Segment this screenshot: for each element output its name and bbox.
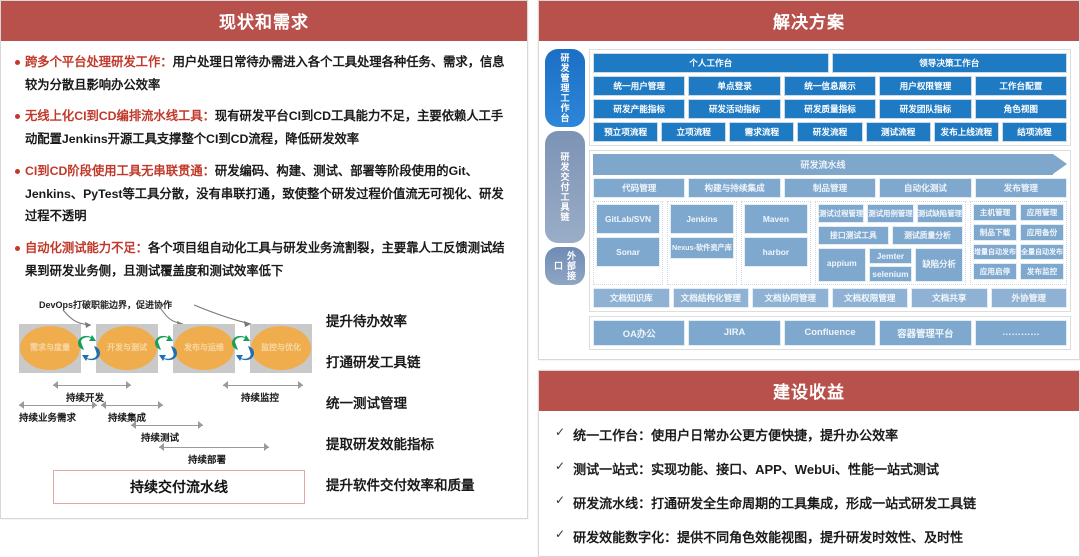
workbench-group: 个人工作台 领导决策工作台 统一用户管理 单点登录 统一信息展示 用户权限管理 … xyxy=(589,49,1071,146)
benefit-item: ✓ 测试一站式：实现功能、接口、APP、WebUi、性能一站式测试 xyxy=(555,459,1063,478)
pipeline-stage[interactable]: 制品管理 xyxy=(784,178,876,198)
continuous-delivery-pipeline-box: 持续交付流水线 xyxy=(53,470,305,504)
bullet-head: 跨多个平台处理研发工作： xyxy=(25,55,173,69)
outcome-item: 提升软件交付效率和质量 xyxy=(326,474,517,494)
document-row: 文档知识库 文档结构化管理 文档协同管理 文档权限管理 文档共享 外协管理 xyxy=(593,288,1067,308)
doc-item[interactable]: 文档权限管理 xyxy=(832,288,909,308)
external-container-platform[interactable]: 容器管理平台 xyxy=(879,320,971,346)
cell-item[interactable]: 结项流程 xyxy=(1002,122,1067,142)
cell-item[interactable]: 立项流程 xyxy=(661,122,726,142)
bullet-text: 跨多个平台处理研发工作：用户处理日常待办需进入各个工具处理各种任务、需求，信息较… xyxy=(25,51,513,96)
tool-selenium[interactable]: selenium xyxy=(869,266,913,282)
cell-item[interactable]: 预立项流程 xyxy=(593,122,658,142)
tool-column-artifact: Maven harbor xyxy=(741,201,811,285)
bullet-dot-icon xyxy=(15,60,20,65)
tool-maven[interactable]: Maven xyxy=(744,204,808,234)
span-label: 持续监控 xyxy=(241,390,279,404)
outcome-item: 打通研发工具链 xyxy=(326,351,517,371)
benefit-head: 统一工作台： xyxy=(573,428,651,443)
bullet-dot-icon xyxy=(15,114,20,119)
pipeline-stage[interactable]: 构建与持续集成 xyxy=(688,178,780,198)
cell-item[interactable]: 研发活动指标 xyxy=(688,99,780,119)
devops-stage-label: 监控与优化 xyxy=(251,326,311,370)
workbench-top-row: 个人工作台 领导决策工作台 xyxy=(593,53,1067,73)
slide-root: 现状和需求 跨多个平台处理研发工作：用户处理日常待办需进入各个工具处理各种任务、… xyxy=(0,0,1080,519)
devops-flow-area: DevOps打破职能边界，促进协作 需求与度量 xyxy=(11,296,326,510)
tool-release-monitor[interactable]: 发布监控 xyxy=(1020,263,1064,280)
benefit-head: 测试一站式： xyxy=(573,462,651,477)
outcome-item: 提升待办效率 xyxy=(326,310,517,330)
external-confluence[interactable]: Confluence xyxy=(784,320,876,346)
architecture-groups: 个人工作台 领导决策工作台 统一用户管理 单点登录 统一信息展示 用户权限管理 … xyxy=(589,49,1071,350)
workbench-row-2: 研发产能指标 研发活动指标 研发质量指标 研发团队指标 角色视图 xyxy=(593,99,1067,119)
tool-full-release[interactable]: 全量自动发布 xyxy=(1020,244,1064,260)
external-oa[interactable]: OA办公 xyxy=(593,320,685,346)
benefit-title: 建设收益 xyxy=(539,371,1079,411)
cell-item[interactable]: 角色视图 xyxy=(975,99,1067,119)
benefit-panel: 建设收益 ✓ 统一工作台：使用户日常办公更方便快捷，提升办公效率 ✓ 测试一站式… xyxy=(538,370,1080,557)
solution-title: 解决方案 xyxy=(539,1,1079,41)
cell-item[interactable]: 研发团队指标 xyxy=(879,99,971,119)
tool-jenkins[interactable]: Jenkins xyxy=(670,204,734,234)
tool-gitlab-svn[interactable]: GitLab/SVN xyxy=(596,204,660,234)
cell-item[interactable]: 单点登录 xyxy=(688,76,780,96)
solution-architecture: 研发管理工作台 研发交付工具链 外部接口 个人工作台 领导决策工作台 统一用户管… xyxy=(539,41,1079,359)
left-column: 现状和需求 跨多个平台处理研发工作：用户处理日常待办需进入各个工具处理各种任务、… xyxy=(0,0,528,519)
tool-row: 测试过程管理 测试用例管理 测试缺陷管理 xyxy=(818,204,963,223)
tool-row: 主机管理 应用管理 xyxy=(973,204,1064,221)
tool-host-mgmt[interactable]: 主机管理 xyxy=(973,204,1017,221)
architecture-layer-rails: 研发管理工作台 研发交付工具链 外部接口 xyxy=(545,49,585,350)
pipeline-stage-row: 代码管理 构建与持续集成 制品管理 自动化测试 发布管理 xyxy=(593,178,1067,198)
devops-stage-label: 发布与运维 xyxy=(174,326,234,370)
devops-stage-row: 需求与度量 开发与测试 发布与运维 xyxy=(19,324,312,373)
bullet-head: CI到CD阶段使用工具无串联贯通： xyxy=(25,164,215,178)
external-interface-group: OA办公 JIRA Confluence 容器管理平台 ………… xyxy=(589,316,1071,350)
bullet-item: 跨多个平台处理研发工作：用户处理日常待办需进入各个工具处理各种任务、需求，信息较… xyxy=(15,51,513,96)
benefit-text: 测试一站式：实现功能、接口、APP、WebUi、性能一站式测试 xyxy=(573,459,939,478)
sync-icon xyxy=(154,335,177,361)
cell-leader-decision-workbench[interactable]: 领导决策工作台 xyxy=(832,53,1068,73)
pipeline-banner: 研发流水线 xyxy=(593,154,1053,175)
rail-dev-delivery-toolchain: 研发交付工具链 xyxy=(545,131,585,243)
benefit-item: ✓ 统一工作台：使用户日常办公更方便快捷，提升办公效率 xyxy=(555,425,1063,444)
tool-app-mgmt[interactable]: 应用管理 xyxy=(1020,204,1064,221)
sync-icon xyxy=(77,335,100,361)
tool-nexus[interactable]: Nexus-软件资产库 xyxy=(670,237,734,259)
tool-row: harbor xyxy=(744,237,808,267)
tool-test-quality-analysis[interactable]: 测试质量分析 xyxy=(892,226,963,245)
current-status-panel: 现状和需求 跨多个平台处理研发工作：用户处理日常待办需进入各个工具处理各种任务、… xyxy=(0,0,528,519)
tool-column-deploy: 主机管理 应用管理 制品下载 应用备份 增量自动发布 全量自动发布 xyxy=(970,201,1067,285)
doc-item[interactable]: 文档知识库 xyxy=(593,288,670,308)
cell-item[interactable]: 需求流程 xyxy=(729,122,794,142)
devops-stage: 需求与度量 xyxy=(19,324,81,373)
benefit-text: 统一工作台：使用户日常办公更方便快捷，提升办公效率 xyxy=(573,425,898,444)
external-more[interactable]: ………… xyxy=(975,320,1067,346)
rail-dev-management-workbench: 研发管理工作台 xyxy=(545,49,585,127)
check-icon: ✓ xyxy=(555,459,565,473)
devops-stage: 监控与优化 xyxy=(250,324,312,373)
tool-test-defect-mgmt[interactable]: 测试缺陷管理 xyxy=(917,204,963,223)
bullet-dot-icon xyxy=(15,169,20,174)
pipeline-stage[interactable]: 发布管理 xyxy=(975,178,1067,198)
tool-harbor[interactable]: harbor xyxy=(744,237,808,267)
tool-row: 制品下载 应用备份 xyxy=(973,224,1064,241)
toolchain-group: 研发流水线 代码管理 构建与持续集成 制品管理 自动化测试 发布管理 GitLa… xyxy=(589,150,1071,312)
bullet-item: 无线上化CI到CD编排流水线工具：现有研发平台CI到CD工具能力不足，主要依赖人… xyxy=(15,105,513,150)
tool-app-start-stop[interactable]: 应用启停 xyxy=(973,263,1017,280)
cell-item[interactable]: 测试流程 xyxy=(866,122,931,142)
cell-item[interactable]: 研发质量指标 xyxy=(784,99,876,119)
current-status-bullet-list: 跨多个平台处理研发工作：用户处理日常待办需进入各个工具处理各种任务、需求，信息较… xyxy=(1,41,527,294)
tool-incremental-release[interactable]: 增量自动发布 xyxy=(973,244,1017,260)
bullet-item: 自动化测试能力不足：各个项目组自动化工具与研发业务流割裂，主要靠人工反馈测试结果… xyxy=(15,237,513,282)
benefit-item: ✓ 研发流水线：打通研发全生命周期的工具集成，形成一站式研发工具链 xyxy=(555,493,1063,512)
benefit-body: 提供不同角色效能视图，提升研发时效性、及时性 xyxy=(677,530,963,545)
check-icon: ✓ xyxy=(555,493,565,507)
cell-item[interactable]: 统一信息展示 xyxy=(784,76,876,96)
sync-icon xyxy=(231,335,254,361)
span-label: 持续业务需求 xyxy=(19,410,76,424)
tool-row: Maven xyxy=(744,204,808,234)
tool-row: Nexus-软件资产库 xyxy=(670,237,734,259)
tool-row: 应用启停 发布监控 xyxy=(973,263,1064,280)
devops-outcomes: 提升待办效率 打通研发工具链 统一测试管理 提取研发效能指标 提升软件交付效率和… xyxy=(326,296,517,510)
tool-column-build: Jenkins Nexus-软件资产库 xyxy=(667,201,737,285)
bullet-head: 无线上化CI到CD编排流水线工具： xyxy=(25,109,215,123)
workbench-row-1: 统一用户管理 单点登录 统一信息展示 用户权限管理 工作台配置 xyxy=(593,76,1067,96)
tool-appium[interactable]: appium xyxy=(818,248,866,282)
doc-item[interactable]: 外协管理 xyxy=(991,288,1068,308)
tool-app-backup[interactable]: 应用备份 xyxy=(1020,224,1064,241)
pipeline-stage[interactable]: 代码管理 xyxy=(593,178,685,198)
tool-sonar[interactable]: Sonar xyxy=(596,237,660,267)
tool-column-scm: GitLab/SVN Sonar xyxy=(593,201,663,285)
tool-artifact-download[interactable]: 制品下载 xyxy=(973,224,1017,241)
tool-row: GitLab/SVN xyxy=(596,204,660,234)
devops-diagram: DevOps打破职能边界，促进协作 需求与度量 xyxy=(11,296,517,510)
benefit-body: 实现功能、接口、APP、WebUi、性能一站式测试 xyxy=(651,462,939,477)
span-label: 持续部署 xyxy=(188,452,226,466)
benefit-text: 研发效能数字化：提供不同角色效能视图，提升研发时效性、及时性 xyxy=(573,527,963,546)
devops-stage-label: 开发与测试 xyxy=(97,326,157,370)
external-jira[interactable]: JIRA xyxy=(688,320,780,346)
benefit-head: 研发流水线： xyxy=(573,496,651,511)
tool-columns: GitLab/SVN Sonar Jenkins Nexus-软件资产库 Mav… xyxy=(593,201,1067,285)
cell-item[interactable]: 发布上线流程 xyxy=(934,122,999,142)
right-column: 解决方案 研发管理工作台 研发交付工具链 外部接口 个人工作台 领导决策工作台 xyxy=(538,0,1080,519)
check-icon: ✓ xyxy=(555,425,565,439)
tool-test-case-mgmt[interactable]: 测试用例管理 xyxy=(867,204,913,223)
external-row: OA办公 JIRA Confluence 容器管理平台 ………… xyxy=(593,320,1067,346)
cell-item[interactable]: 研发产能指标 xyxy=(593,99,685,119)
benefit-body: 打通研发全生命周期的工具集成，形成一站式研发工具链 xyxy=(651,496,976,511)
check-icon: ✓ xyxy=(555,527,565,541)
solution-panel: 解决方案 研发管理工作台 研发交付工具链 外部接口 个人工作台 领导决策工作台 xyxy=(538,0,1080,360)
tool-jmeter[interactable]: Jemter xyxy=(869,248,913,264)
doc-item[interactable]: 文档共享 xyxy=(911,288,988,308)
devops-stage: 开发与测试 xyxy=(96,324,158,373)
benefit-item: ✓ 研发效能数字化：提供不同角色效能视图，提升研发时效性、及时性 xyxy=(555,527,1063,546)
cell-personal-workbench[interactable]: 个人工作台 xyxy=(593,53,829,73)
tool-stack: Jemter selenium xyxy=(869,248,913,282)
bullet-head: 自动化测试能力不足： xyxy=(25,241,148,255)
bullet-dot-icon xyxy=(15,246,20,251)
devops-stage-label: 需求与度量 xyxy=(20,326,80,370)
pipeline-stage[interactable]: 自动化测试 xyxy=(879,178,971,198)
benefit-text: 研发流水线：打通研发全生命周期的工具集成，形成一站式研发工具链 xyxy=(573,493,976,512)
tool-row: appium Jemter selenium 缺陷分析 xyxy=(818,248,963,282)
tool-defect-analysis[interactable]: 缺陷分析 xyxy=(915,248,963,282)
doc-item[interactable]: 文档协同管理 xyxy=(752,288,829,308)
benefit-list: ✓ 统一工作台：使用户日常办公更方便快捷，提升办公效率 ✓ 测试一站式：实现功能… xyxy=(539,411,1079,556)
current-status-title: 现状和需求 xyxy=(1,1,527,41)
tool-column-test: 测试过程管理 测试用例管理 测试缺陷管理 接口测试工具 测试质量分析 appiu… xyxy=(815,201,966,285)
tool-row: Jenkins xyxy=(670,204,734,234)
outcome-item: 提取研发效能指标 xyxy=(326,433,517,453)
outcome-item: 统一测试管理 xyxy=(326,392,517,412)
tool-row: 增量自动发布 全量自动发布 xyxy=(973,244,1064,260)
bullet-item: CI到CD阶段使用工具无串联贯通：研发编码、构建、测试、部署等阶段使用的Git、… xyxy=(15,160,513,228)
tool-row: 接口测试工具 测试质量分析 xyxy=(818,226,963,245)
bullet-text: CI到CD阶段使用工具无串联贯通：研发编码、构建、测试、部署等阶段使用的Git、… xyxy=(25,160,513,228)
tool-test-process-mgmt[interactable]: 测试过程管理 xyxy=(818,204,864,223)
bullet-text: 自动化测试能力不足：各个项目组自动化工具与研发业务流割裂，主要靠人工反馈测试结果… xyxy=(25,237,513,282)
workbench-row-3: 预立项流程 立项流程 需求流程 研发流程 测试流程 发布上线流程 结项流程 xyxy=(593,122,1067,142)
cell-item[interactable]: 研发流程 xyxy=(797,122,862,142)
tool-row: Sonar xyxy=(596,237,660,267)
cell-item[interactable]: 工作台配置 xyxy=(975,76,1067,96)
tool-api-test[interactable]: 接口测试工具 xyxy=(818,226,889,245)
rail-external-interface: 外部接口 xyxy=(545,247,585,285)
benefit-body: 使用户日常办公更方便快捷，提升办公效率 xyxy=(651,428,898,443)
doc-item[interactable]: 文档结构化管理 xyxy=(673,288,750,308)
cell-item[interactable]: 用户权限管理 xyxy=(879,76,971,96)
bullet-text: 无线上化CI到CD编排流水线工具：现有研发平台CI到CD工具能力不足，主要依赖人… xyxy=(25,105,513,150)
cell-item[interactable]: 统一用户管理 xyxy=(593,76,685,96)
benefit-head: 研发效能数字化： xyxy=(573,530,677,545)
devops-stage: 发布与运维 xyxy=(173,324,235,373)
